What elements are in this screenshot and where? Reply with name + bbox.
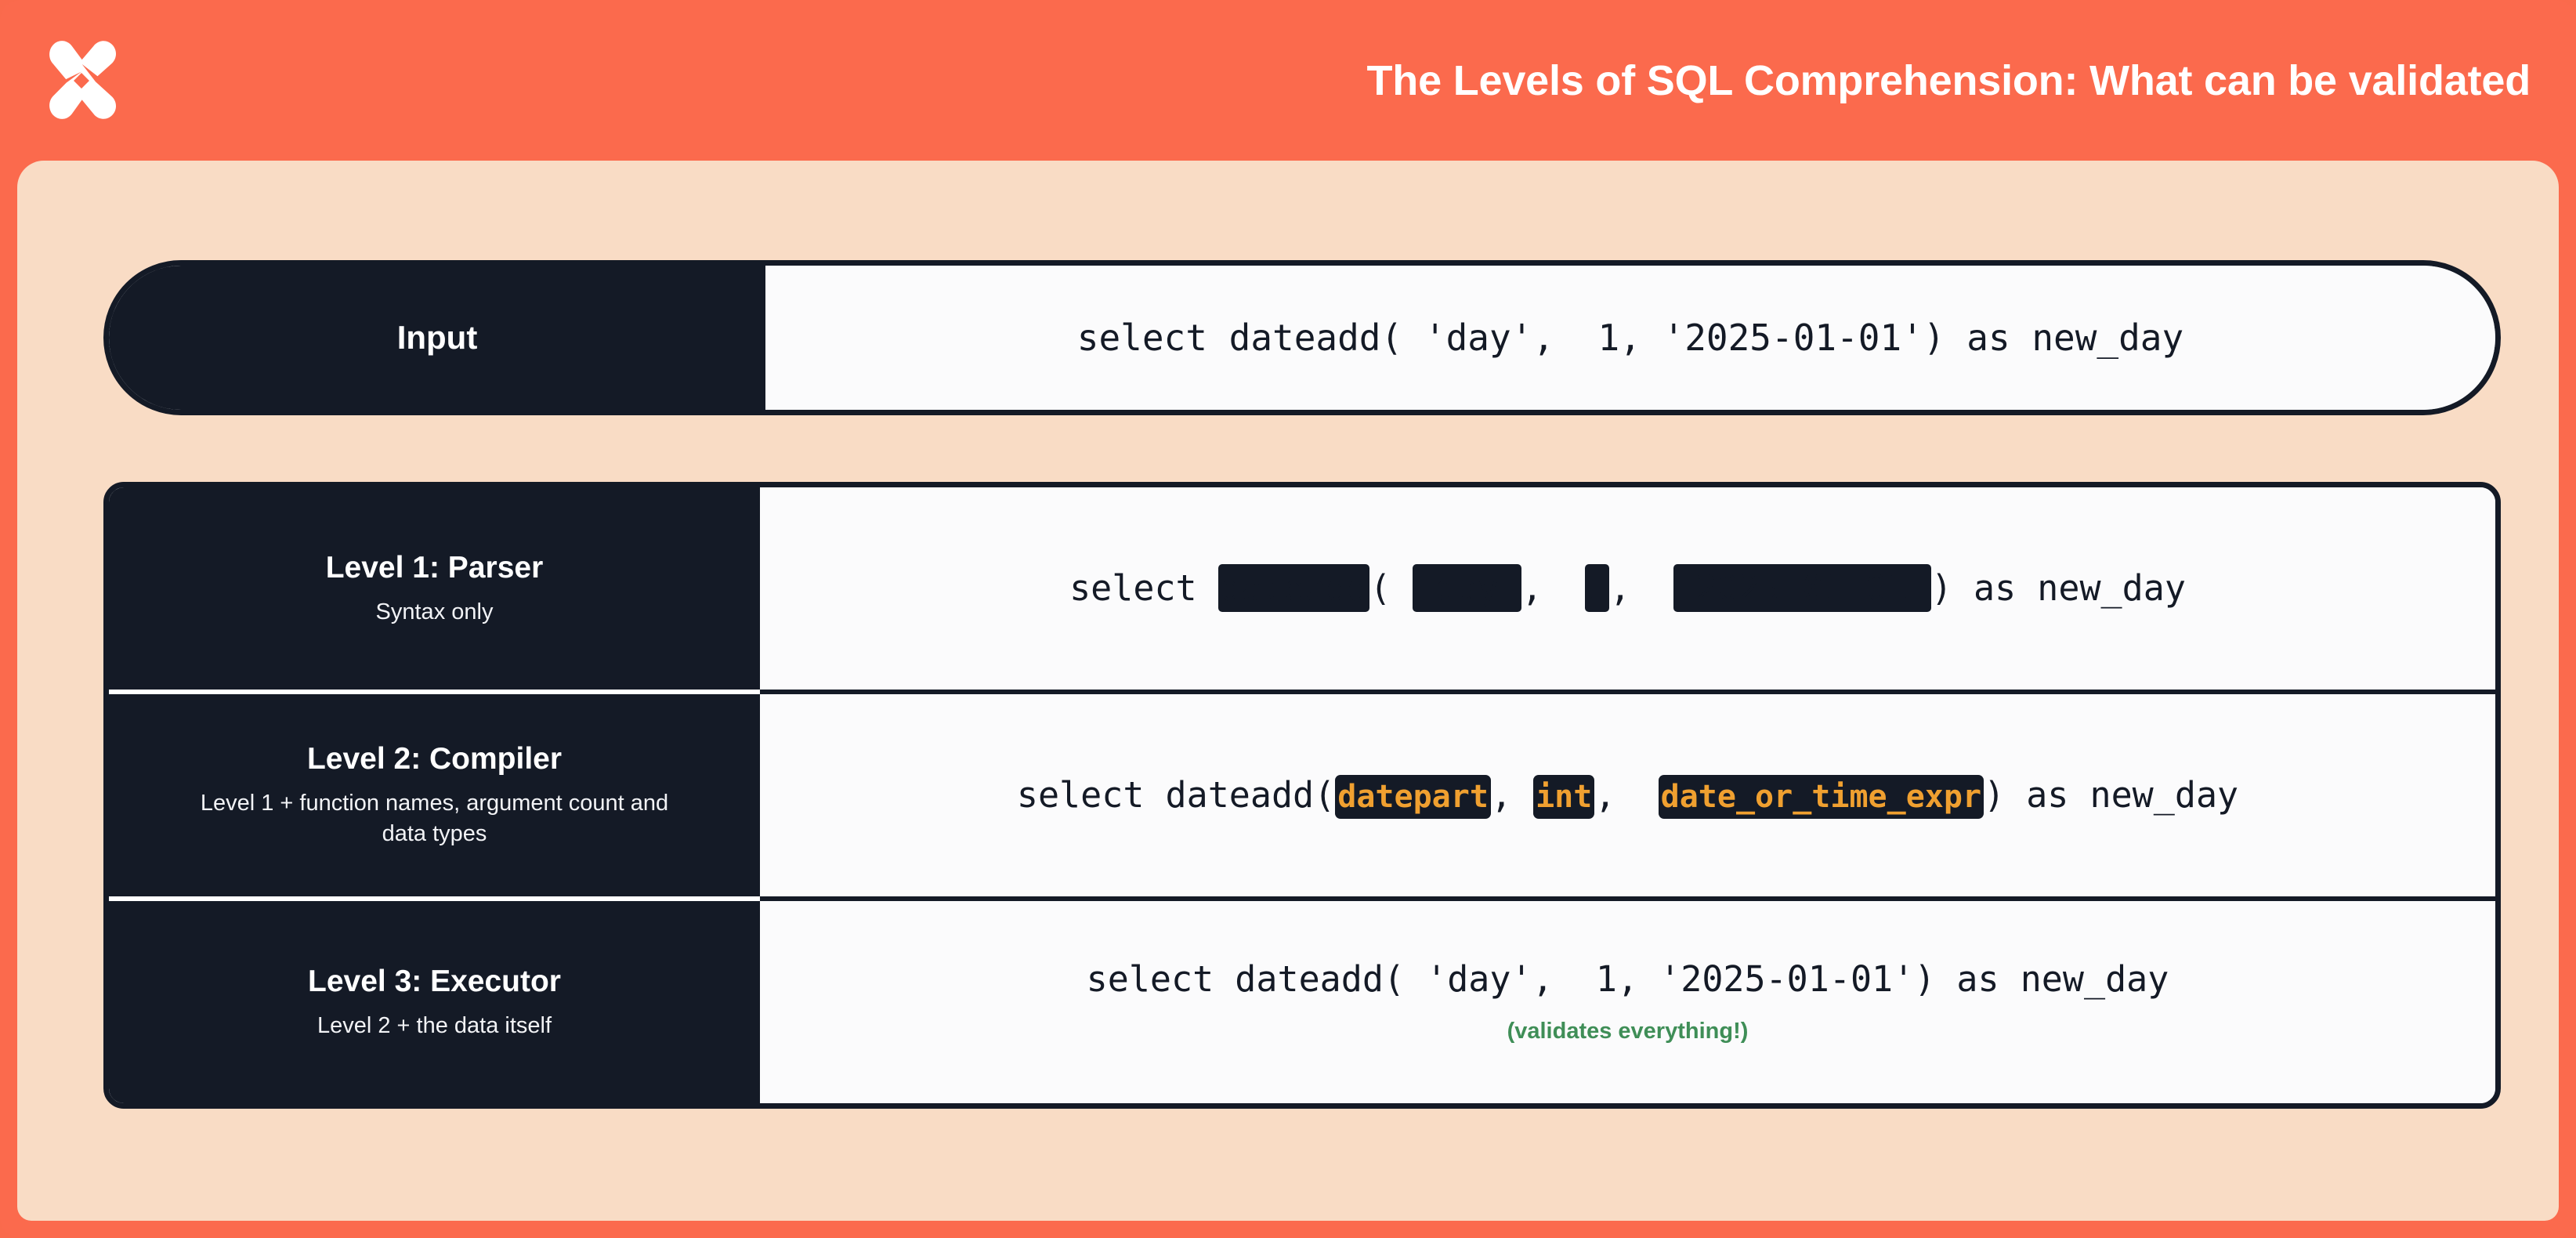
level-2-label-cell: Level 2: Compiler Level 1 + function nam… bbox=[109, 690, 760, 896]
level-1-label-cell: Level 1: Parser Syntax only bbox=[109, 487, 760, 690]
redacted-token: '2025-01-01' bbox=[1673, 564, 1931, 612]
page-title: The Levels of SQL Comprehension: What ca… bbox=[1367, 56, 2542, 105]
table-row: Level 1: Parser Syntax only select datea… bbox=[109, 487, 2495, 690]
type-token: int bbox=[1533, 775, 1594, 819]
level-3-note: (validates everything!) bbox=[1507, 1019, 1749, 1044]
level-2-subtitle: Level 1 + function names, argument count… bbox=[200, 788, 670, 849]
table-row: Level 3: Executor Level 2 + the data its… bbox=[109, 896, 2495, 1103]
input-row-label: Input bbox=[109, 266, 765, 410]
type-token: datepart bbox=[1335, 775, 1491, 819]
level-3-label-cell: Level 3: Executor Level 2 + the data its… bbox=[109, 896, 760, 1103]
code-text: ) as new_day bbox=[1984, 774, 2238, 816]
level-1-subtitle: Syntax only bbox=[376, 597, 494, 628]
redacted-token: 'day' bbox=[1413, 564, 1521, 612]
content-panel: Input select dateadd( 'day', 1, '2025-01… bbox=[17, 161, 2559, 1221]
code-text: , bbox=[1609, 567, 1673, 609]
code-text: ) as new_day bbox=[1931, 567, 2186, 609]
code-text: , bbox=[1521, 567, 1585, 609]
infographic-poster: The Levels of SQL Comprehension: What ca… bbox=[0, 0, 2576, 1238]
code-text: , bbox=[1491, 774, 1533, 816]
code-text: ( bbox=[1369, 567, 1412, 609]
level-2-title: Level 2: Compiler bbox=[307, 741, 562, 777]
header-bar: The Levels of SQL Comprehension: What ca… bbox=[0, 0, 2576, 161]
code-text: select bbox=[1069, 567, 1218, 609]
input-row: Input select dateadd( 'day', 1, '2025-01… bbox=[103, 260, 2501, 415]
code-text: select dateadd( bbox=[1017, 774, 1335, 816]
level-1-sql-code: select dateadd( 'day', 1, '2025-01-01') … bbox=[1069, 569, 2186, 608]
level-3-code-cell: select dateadd( 'day', 1, '2025-01-01') … bbox=[760, 901, 2495, 1103]
input-row-code-cell: select dateadd( 'day', 1, '2025-01-01') … bbox=[765, 266, 2495, 410]
code-text: , bbox=[1594, 774, 1658, 816]
level-3-sql-code: select dateadd( 'day', 1, '2025-01-01') … bbox=[1087, 960, 2169, 999]
input-sql-code: select dateadd( 'day', 1, '2025-01-01') … bbox=[1077, 318, 2183, 358]
level-2-code-cell: select dateadd(datepart, int, date_or_ti… bbox=[760, 694, 2495, 896]
level-1-code-cell: select dateadd( 'day', 1, '2025-01-01') … bbox=[760, 487, 2495, 690]
table-row: Level 2: Compiler Level 1 + function nam… bbox=[109, 690, 2495, 896]
level-1-title: Level 1: Parser bbox=[326, 550, 544, 586]
redacted-token: dateadd bbox=[1218, 564, 1370, 612]
levels-table: Level 1: Parser Syntax only select datea… bbox=[103, 482, 2501, 1109]
type-token: date_or_time_expr bbox=[1659, 775, 1984, 819]
redacted-token: 1 bbox=[1585, 564, 1609, 612]
x-star-logo-icon bbox=[31, 31, 132, 131]
level-3-title: Level 3: Executor bbox=[308, 964, 561, 1000]
level-2-sql-code: select dateadd(datepart, int, date_or_ti… bbox=[1017, 776, 2238, 815]
code-text: select dateadd( 'day', 1, '2025-01-01') … bbox=[1087, 958, 2169, 1000]
level-3-subtitle: Level 2 + the data itself bbox=[317, 1011, 552, 1041]
